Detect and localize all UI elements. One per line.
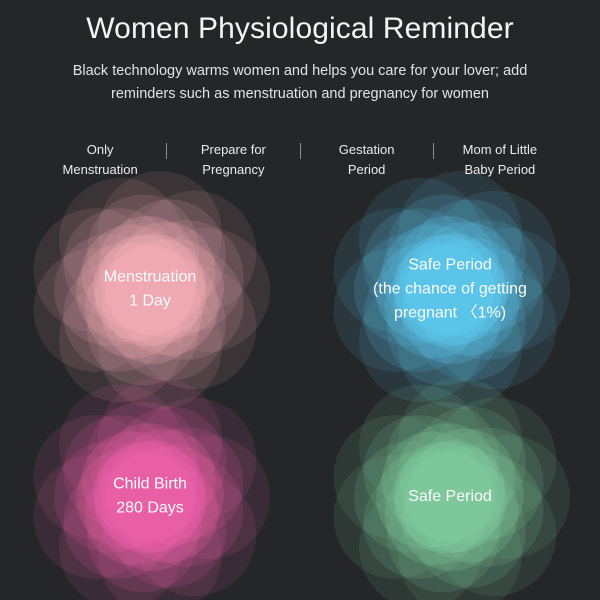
petal [418, 249, 494, 325]
category-row: Only Menstruation Prepare for Pregnancy … [34, 140, 566, 180]
blob-safe-period-baby[interactable]: Safe Period [300, 393, 600, 600]
category-mom-of-little-baby-period[interactable]: Mom of Little Baby Period [434, 140, 566, 180]
blob-child-birth[interactable]: Child Birth 280 Days [0, 393, 300, 600]
category-prepare-for-pregnancy[interactable]: Prepare for Pregnancy [167, 140, 299, 180]
blob-grid: Menstruation 1 Day Safe Period (the chan… [0, 186, 600, 600]
category-gestation-period[interactable]: Gestation Period [301, 140, 433, 180]
category-only-menstruation[interactable]: Only Menstruation [34, 140, 166, 180]
petal [418, 456, 494, 532]
header: Women Physiological Reminder Black techn… [0, 0, 600, 105]
infographic-page: Women Physiological Reminder Black techn… [0, 0, 600, 600]
page-title: Women Physiological Reminder [0, 0, 600, 46]
petal-cluster-svg [300, 347, 600, 600]
page-subtitle: Black technology warms women and helps y… [70, 60, 530, 106]
petal [118, 456, 194, 532]
petal [118, 249, 194, 325]
petal-cluster-svg [0, 347, 300, 600]
